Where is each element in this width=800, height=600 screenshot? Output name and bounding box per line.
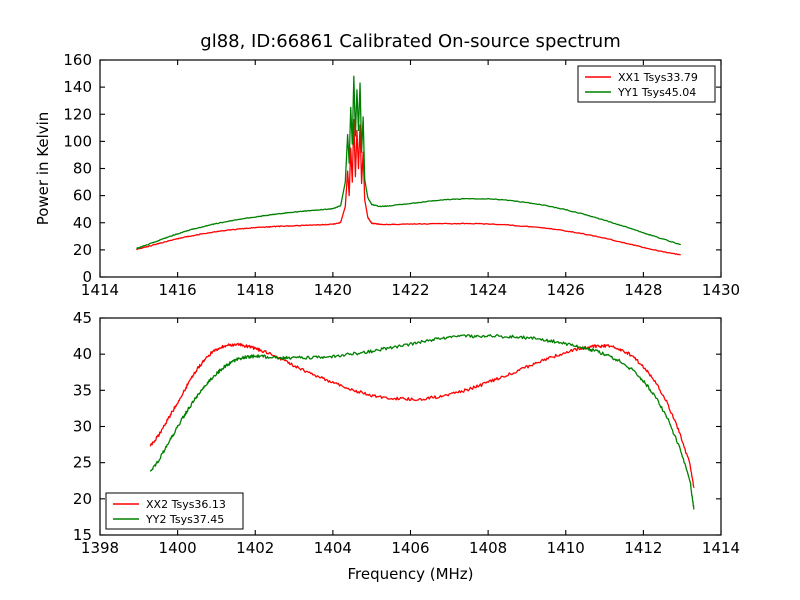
traces bbox=[137, 76, 680, 254]
x-tick-label: 1408 bbox=[469, 539, 507, 557]
legend: XX1 Tsys33.79YY1 Tsys45.04 bbox=[578, 66, 715, 102]
figure-title: gl88, ID:66861 Calibrated On-source spec… bbox=[200, 31, 620, 52]
panel-bottom-panel: 1398140014021404140614081410141214141520… bbox=[73, 309, 740, 583]
x-tick-label: 1418 bbox=[236, 281, 274, 299]
y-tick-label: 15 bbox=[73, 526, 92, 544]
y-tick-label: 140 bbox=[63, 78, 92, 96]
x-tick-label: 1416 bbox=[159, 281, 197, 299]
y-tick-label: 60 bbox=[73, 187, 92, 205]
series-line-0 bbox=[150, 343, 693, 487]
x-tick-label: 1412 bbox=[624, 539, 662, 557]
y-tick-label: 45 bbox=[73, 309, 92, 327]
y-tick-label: 35 bbox=[73, 381, 92, 399]
legend-label: YY2 Tsys37.45 bbox=[145, 513, 224, 526]
x-tick-label: 1430 bbox=[702, 281, 740, 299]
legend-label: YY1 Tsys45.04 bbox=[617, 86, 696, 99]
y-tick-label: 40 bbox=[73, 214, 92, 232]
y-tick-label: 30 bbox=[73, 418, 92, 436]
figure-canvas: 1414141614181420142214241426142814300204… bbox=[0, 0, 800, 600]
y-tick-label: 40 bbox=[73, 345, 92, 363]
traces bbox=[150, 335, 693, 509]
x-tick-label: 1414 bbox=[702, 539, 740, 557]
x-tick-label: 1424 bbox=[469, 281, 507, 299]
y-tick-label: 25 bbox=[73, 454, 92, 472]
x-tick-label: 1420 bbox=[314, 281, 352, 299]
y-axis-label: Power in Kelvin bbox=[34, 112, 52, 226]
y-tick-label: 160 bbox=[63, 51, 92, 69]
legend-label: XX1 Tsys33.79 bbox=[618, 71, 698, 84]
legend: XX2 Tsys36.13YY2 Tsys37.45 bbox=[106, 493, 243, 529]
y-tick-label: 0 bbox=[82, 268, 92, 286]
y-tick-label: 20 bbox=[73, 490, 92, 508]
x-tick-label: 1402 bbox=[236, 539, 274, 557]
x-tick-label: 1406 bbox=[391, 539, 429, 557]
x-tick-label: 1400 bbox=[159, 539, 197, 557]
spectrum-figure: 1414141614181420142214241426142814300204… bbox=[0, 0, 800, 600]
legend-label: XX2 Tsys36.13 bbox=[146, 498, 226, 511]
x-tick-label: 1422 bbox=[391, 281, 429, 299]
y-tick-label: 100 bbox=[63, 132, 92, 150]
x-tick-label: 1428 bbox=[624, 281, 662, 299]
x-tick-label: 1410 bbox=[547, 539, 585, 557]
y-tick-label: 80 bbox=[73, 160, 92, 178]
y-tick-label: 20 bbox=[73, 241, 92, 259]
series-line-0 bbox=[137, 120, 680, 255]
series-line-1 bbox=[150, 335, 693, 509]
x-tick-label: 1426 bbox=[547, 281, 585, 299]
x-axis-label: Frequency (MHz) bbox=[347, 565, 473, 583]
panel-top-panel: 1414141614181420142214241426142814300204… bbox=[34, 31, 740, 299]
x-tick-label: 1404 bbox=[314, 539, 352, 557]
y-tick-label: 120 bbox=[63, 105, 92, 123]
